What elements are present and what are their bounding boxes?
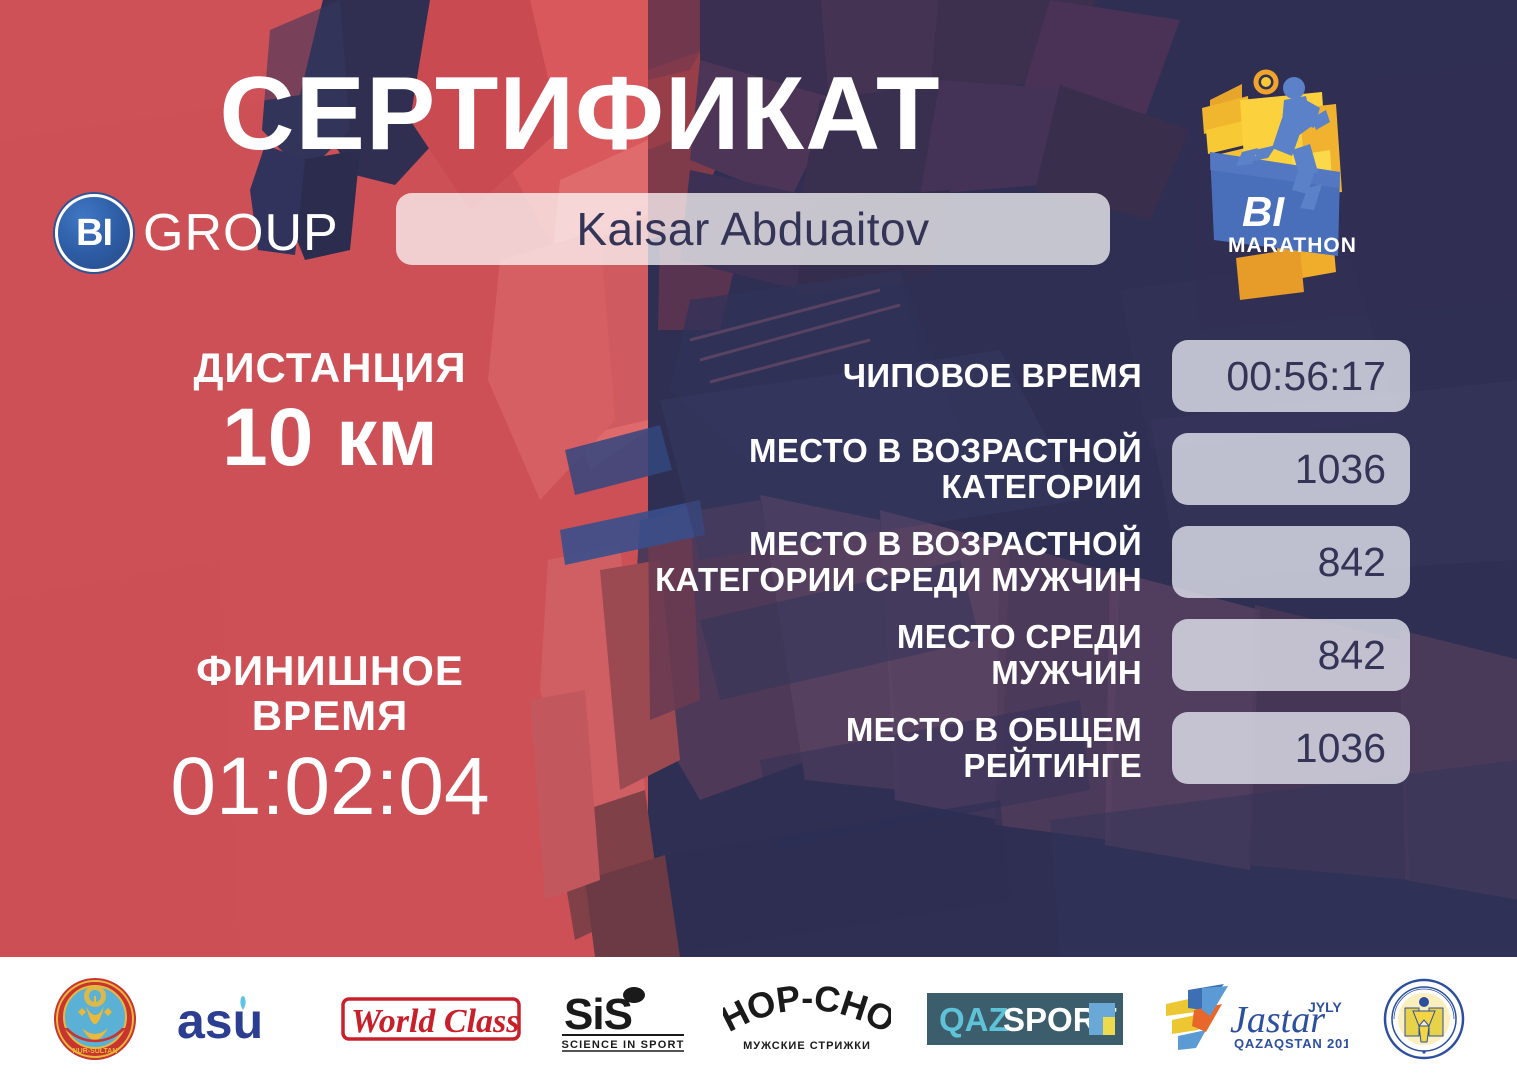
world-class-logo-icon: World Class	[340, 989, 522, 1049]
stat-label: ЧИПОВОЕ ВРЕМЯ	[620, 358, 1172, 394]
stat-value: 1036	[1172, 433, 1410, 505]
stat-label: МЕСТО В ВОЗРАСТНОЙ КАТЕГОРИИ	[620, 433, 1172, 504]
qazsport-logo-icon: QAZ SPORT	[927, 993, 1123, 1045]
stat-value: 842	[1172, 526, 1410, 598]
stat-row: МЕСТО В ВОЗРАСТНОЙ КАТЕГОРИИ 1036	[620, 433, 1410, 505]
chop-chop-tagline: МУЖСКИЕ СТРИЖКИ	[743, 1040, 871, 1052]
marathon-bi-text: BI	[1242, 188, 1285, 235]
sponsor-asu: asu	[173, 988, 305, 1050]
marathon-word-text: MARATHON	[1228, 234, 1357, 257]
stat-label: МЕСТО В ОБЩЕМ РЕЙТИНГЕ	[620, 712, 1172, 783]
sponsor-world-class: World Class	[340, 989, 522, 1049]
finish-time-label: ФИНИШНОЕ ВРЕМЯ	[80, 648, 580, 739]
sponsor-ministry-culture-sport	[1383, 978, 1465, 1060]
stat-value: 00:56:17	[1172, 340, 1410, 412]
stat-value: 1036	[1172, 712, 1410, 784]
sis-text: SiS	[564, 990, 632, 1039]
stat-row: МЕСТО В ОБЩЕМ РЕЙТИНГЕ 1036	[620, 712, 1410, 784]
sponsor-strip: NUR-SULTAN asu World Class SiS SCIENCE I…	[0, 957, 1517, 1080]
finish-time-value: 01:02:04	[80, 741, 580, 833]
nur-sultan-emblem-icon: NUR-SULTAN	[52, 976, 138, 1062]
sponsor-jastar-jyly: Jastar JYLY QAZAQSTAN 2019	[1158, 982, 1348, 1056]
chop-chop-text: CHOP-CHOP	[723, 985, 891, 1041]
asu-text: asu	[177, 993, 263, 1049]
nur-sultan-label: NUR-SULTAN	[72, 1048, 117, 1055]
sis-logo-icon: SiS SCIENCE IN SPORT	[558, 985, 688, 1053]
bi-logo-text: BI	[76, 212, 112, 255]
stat-row: ЧИПОВОЕ ВРЕМЯ 00:56:17	[620, 340, 1410, 412]
finish-time-block: ФИНИШНОЕ ВРЕМЯ 01:02:04	[80, 648, 580, 833]
sponsor-qazsport: QAZ SPORT	[927, 993, 1123, 1045]
certificate-canvas: СЕРТИФИКАТ Kaisar Abduaitov BI GROUP	[0, 0, 1517, 1080]
distance-block: ДИСТАНЦИЯ 10 км	[80, 345, 580, 484]
jastar-jyly-logo-icon: Jastar JYLY QAZAQSTAN 2019	[1158, 982, 1348, 1056]
stat-label: МЕСТО СРЕДИ МУЖЧИН	[620, 619, 1172, 690]
sis-tagline: SCIENCE IN SPORT	[561, 1039, 684, 1051]
sponsor-sis: SiS SCIENCE IN SPORT	[558, 985, 688, 1053]
bi-marathon-logo: BI MARATHON	[1180, 60, 1390, 300]
bi-group-word: GROUP	[143, 203, 339, 263]
jyly-text: JYLY	[1308, 999, 1342, 1015]
asu-logo-icon: asu	[173, 988, 305, 1050]
stats-list: ЧИПОВОЕ ВРЕМЯ 00:56:17 МЕСТО В ВОЗРАСТНО…	[620, 340, 1410, 805]
chop-chop-logo-icon: CHOP-CHOP МУЖСКИЕ СТРИЖКИ	[723, 985, 891, 1053]
bi-group-logo: BI GROUP	[55, 194, 339, 272]
sponsor-nur-sultan: NUR-SULTAN	[52, 976, 138, 1062]
sponsor-chop-chop: CHOP-CHOP МУЖСКИЕ СТРИЖКИ	[723, 985, 891, 1053]
page-title: СЕРТИФИКАТ	[0, 62, 1160, 166]
jastar-subtitle: QAZAQSTAN 2019	[1234, 1036, 1348, 1051]
stat-label: МЕСТО В ВОЗРАСТНОЙ КАТЕГОРИИ СРЕДИ МУЖЧИ…	[620, 526, 1172, 597]
participant-name-text: Kaisar Abduaitov	[576, 202, 929, 256]
bi-logo-icon: BI	[55, 194, 133, 272]
distance-value: 10 км	[80, 392, 580, 484]
stat-value: 842	[1172, 619, 1410, 691]
participant-name-field: Kaisar Abduaitov	[396, 193, 1110, 265]
world-class-text: World Class	[351, 1003, 519, 1040]
stat-row: МЕСТО СРЕДИ МУЖЧИН 842	[620, 619, 1410, 691]
distance-label: ДИСТАНЦИЯ	[80, 345, 580, 390]
stat-row: МЕСТО В ВОЗРАСТНОЙ КАТЕГОРИИ СРЕДИ МУЖЧИ…	[620, 526, 1410, 598]
qazsport-qaz-text: QAZ	[939, 1001, 1009, 1038]
ministry-culture-sport-emblem-icon	[1383, 978, 1465, 1060]
